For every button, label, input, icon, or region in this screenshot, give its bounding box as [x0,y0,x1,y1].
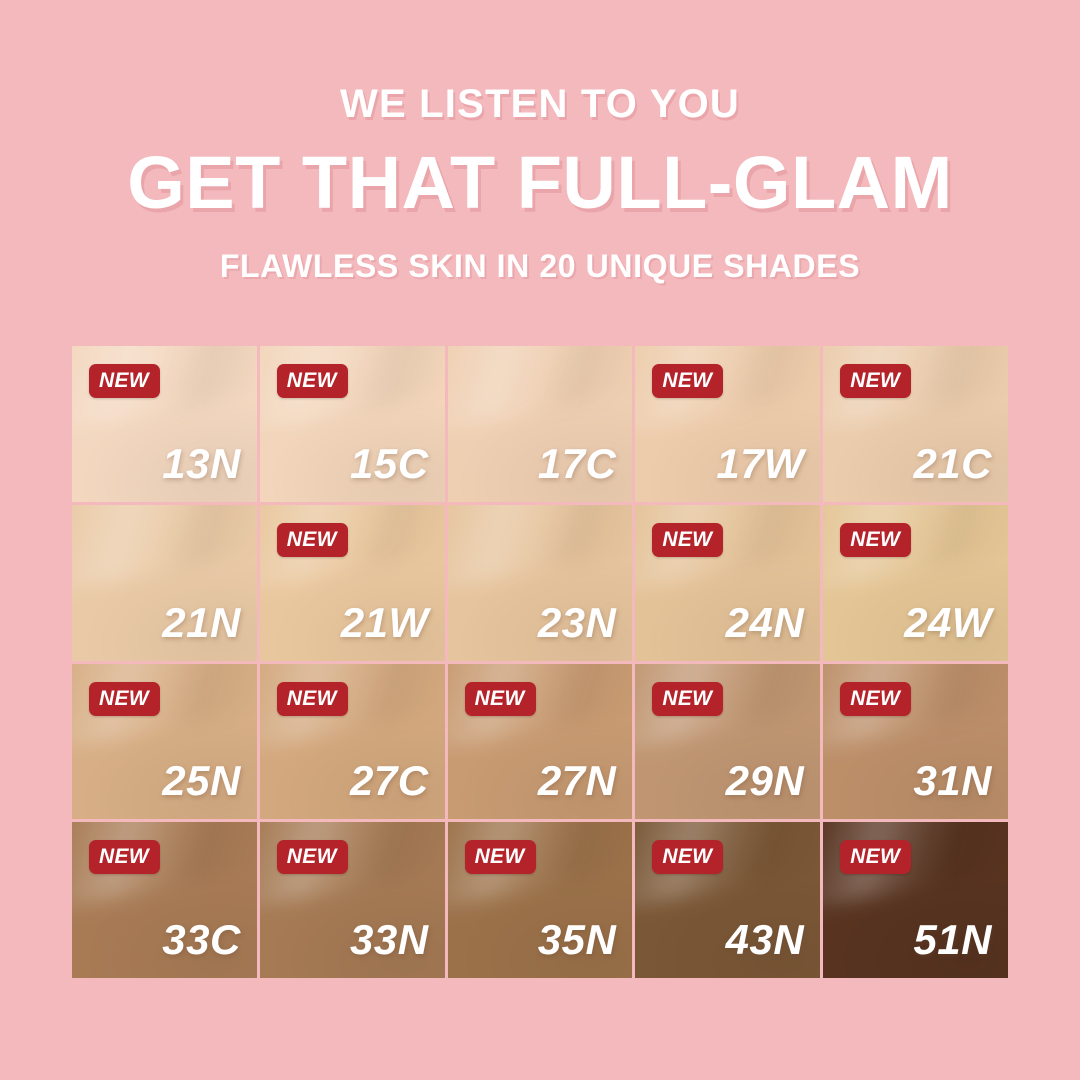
shade-swatch[interactable]: NEW24N [635,505,820,661]
shade-code-label: 21W [341,602,429,644]
shade-code-label: 33C [162,919,241,961]
new-badge: NEW [652,840,723,874]
shade-code-label: 17W [716,443,804,485]
new-badge: NEW [652,364,723,398]
promo-header: WE LISTEN TO YOU GET THAT FULL-GLAM FLAW… [0,0,1080,282]
eyebrow-text: WE LISTEN TO YOU [0,84,1080,124]
shade-swatch[interactable]: NEW13N [72,346,257,502]
shade-code-label: 27C [350,760,429,802]
shade-code-label: 17C [538,443,617,485]
shade-code-label: 27N [538,760,617,802]
shade-code-label: 24N [726,602,805,644]
shade-swatch[interactable]: NEW51N [823,822,1008,978]
shade-swatch[interactable]: NEW17C [448,346,633,502]
shade-code-label: 13N [162,443,241,485]
shade-swatch[interactable]: NEW33N [260,822,445,978]
shade-swatch[interactable]: NEW24W [823,505,1008,661]
new-badge: NEW [652,523,723,557]
shade-code-label: 24W [904,602,992,644]
shade-swatch[interactable]: NEW33C [72,822,257,978]
shade-code-label: 35N [538,919,617,961]
shade-code-label: 21C [913,443,992,485]
new-badge: NEW [89,682,160,716]
new-badge: NEW [840,364,911,398]
new-badge: NEW [465,682,536,716]
new-badge: NEW [840,682,911,716]
shade-swatch[interactable]: NEW21W [260,505,445,661]
new-badge: NEW [277,840,348,874]
shade-swatch[interactable]: NEW21N [72,505,257,661]
shade-code-label: 33N [350,919,429,961]
new-badge: NEW [277,364,348,398]
shade-code-label: 51N [913,919,992,961]
shade-code-label: 23N [538,602,617,644]
new-badge: NEW [840,523,911,557]
new-badge: NEW [277,682,348,716]
shade-swatch[interactable]: NEW27C [260,664,445,820]
shade-swatch[interactable]: NEW31N [823,664,1008,820]
shade-swatch[interactable]: NEW29N [635,664,820,820]
shade-swatch[interactable]: NEW27N [448,664,633,820]
shade-code-label: 15C [350,443,429,485]
subtitle-text: FLAWLESS SKIN IN 20 UNIQUE SHADES [0,250,1080,282]
new-badge: NEW [89,840,160,874]
new-badge: NEW [840,840,911,874]
shade-swatch[interactable]: NEW15C [260,346,445,502]
shade-swatch[interactable]: NEW23N [448,505,633,661]
shade-swatch[interactable]: NEW21C [823,346,1008,502]
page-title: GET THAT FULL-GLAM [0,146,1080,220]
new-badge: NEW [465,840,536,874]
shade-swatch[interactable]: NEW25N [72,664,257,820]
shade-swatch[interactable]: NEW43N [635,822,820,978]
new-badge: NEW [277,523,348,557]
shade-swatch[interactable]: NEW35N [448,822,633,978]
shade-code-label: 29N [726,760,805,802]
shade-code-label: 31N [913,760,992,802]
shade-grid: NEW13NNEW15CNEW17CNEW17WNEW21CNEW21NNEW2… [72,346,1008,978]
shade-code-label: 21N [162,602,241,644]
shade-code-label: 43N [726,919,805,961]
new-badge: NEW [89,364,160,398]
shade-swatch[interactable]: NEW17W [635,346,820,502]
shade-grid-container: NEW13NNEW15CNEW17CNEW17WNEW21CNEW21NNEW2… [72,346,1008,978]
shade-code-label: 25N [162,760,241,802]
new-badge: NEW [652,682,723,716]
